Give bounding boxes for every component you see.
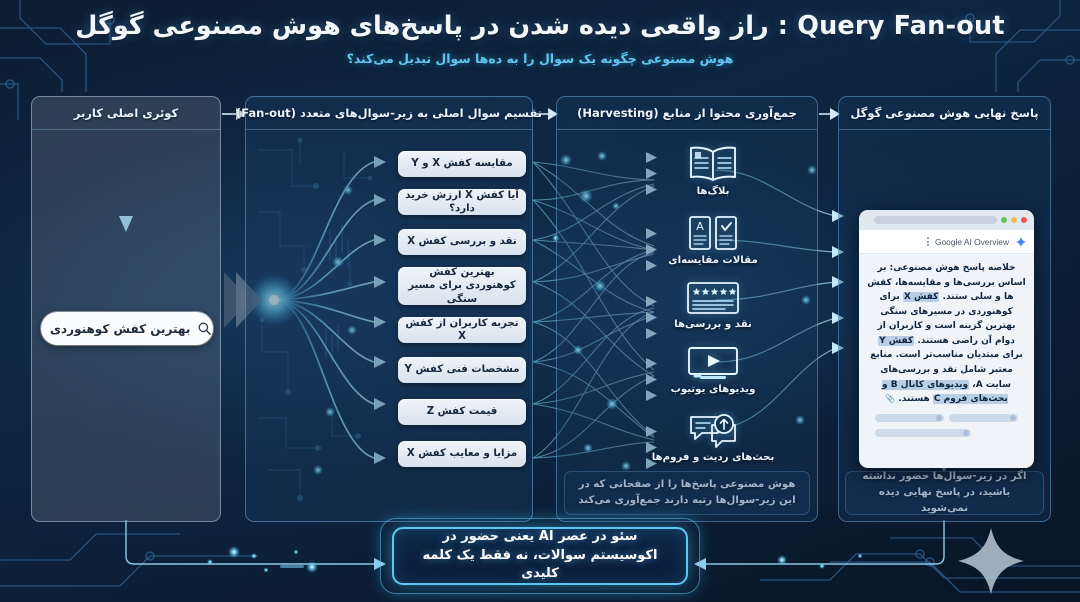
search-input[interactable]: بهترین کفش کوهنوردی [41, 312, 213, 345]
page-title: Query Fan-out : راز واقعی دیده شدن در پا… [0, 10, 1080, 43]
panel-final-answer-body: Google AI Overview خلاصه پاسخ هوش مصنوعی… [839, 130, 1050, 521]
infographic-canvas: Query Fan-out : راز واقعی دیده شدن در پا… [0, 0, 1080, 602]
panel-fanout-body: مقایسه کفش X و Y آیا کفش X ارزش خرید دار… [246, 130, 532, 521]
panel-harvesting-title: جمع‌آوری محتوا از منابع (Harvesting) [557, 97, 817, 130]
source-item-forums[interactable]: بحث‌های ردیت و فروم‌ها [657, 411, 769, 463]
ai-overview-text: خلاصه پاسخ هوش مصنوعی: بر اساس بررسی‌ها … [867, 261, 1026, 407]
ai-text-highlight: کفش X [903, 292, 940, 302]
ai-text-lead: خلاصه پاسخ هوش مصنوعی: [890, 263, 1016, 273]
panel-user-query: کوئری اصلی کاربر بهترین کفش کوهنوردی [31, 96, 221, 522]
panel-harvesting: جمع‌آوری محتوا از منابع (Harvesting) بلا… [556, 96, 818, 522]
paperclip-icon[interactable]: 📎 [885, 393, 895, 406]
subquestion-chip[interactable]: قیمت کفش Z [398, 399, 526, 425]
subquestion-chip[interactable]: بهترین کفش کوهنوردی برای مسیر سنگی [398, 267, 526, 305]
ai-overview-body: خلاصه پاسخ هوش مصنوعی: بر اساس بررسی‌ها … [859, 254, 1034, 441]
panel-final-answer-title: پاسخ نهایی هوش مصنوعی گوگل [839, 97, 1050, 130]
subquestion-chip[interactable]: آیا کفش X ارزش خرید دارد؟ [398, 189, 526, 215]
source-label: ویدیوهای یوتیوب [671, 384, 756, 395]
takeaway-banner: سئو در عصر AI یعنی حضور در اکوسیستم سوال… [392, 527, 688, 585]
star-review-icon [685, 280, 741, 316]
gemini-sparkle-icon [1015, 236, 1027, 248]
window-close-dot[interactable] [1021, 217, 1027, 223]
video-play-icon [686, 345, 740, 381]
four-point-star-icon [958, 528, 1024, 594]
forum-chat-icon [686, 411, 740, 449]
search-input-value: بهترین کفش کوهنوردی [50, 322, 190, 336]
subquestion-chip[interactable]: مزایا و معایب کفش X [398, 441, 526, 467]
header: Query Fan-out : راز واقعی دیده شدن در پا… [0, 10, 1080, 66]
ai-overview-source-chips-row [867, 429, 1026, 437]
source-item-youtube-videos[interactable]: ویدیوهای یوتیوب [657, 345, 769, 395]
ai-overview-source-chips-row [867, 414, 1026, 422]
subquestion-chip[interactable]: نقد و بررسی کفش X [398, 229, 526, 255]
subquestion-chip[interactable]: مقایسه کفش X و Y [398, 151, 526, 177]
ai-overview-header: Google AI Overview [859, 230, 1034, 254]
page-subtitle: هوش مصنوعی چگونه یک سوال را به ده‌ها سوا… [0, 51, 1080, 66]
panel-final-answer: پاسخ نهایی هوش مصنوعی گوگل Google AI Ove… [838, 96, 1051, 522]
subquestion-chip[interactable]: تجربه کاربران از کفش X [398, 317, 526, 343]
source-item-blogs[interactable]: بلاگ‌ها [657, 145, 769, 197]
source-label: نقد و بررسی‌ها [674, 319, 752, 330]
ai-overview-card: Google AI Overview خلاصه پاسخ هوش مصنوعی… [859, 210, 1034, 468]
window-minimize-dot[interactable] [1011, 217, 1017, 223]
window-maximize-dot[interactable] [1001, 217, 1007, 223]
open-book-icon [686, 145, 740, 183]
source-item-reviews[interactable]: نقد و بررسی‌ها [657, 280, 769, 330]
panel-harvesting-body: بلاگ‌ها A مقالات مقایسه‌ای [557, 130, 817, 521]
source-chip-placeholder[interactable] [949, 414, 1018, 422]
ai-text-part: هستند. [898, 394, 929, 404]
source-chip-placeholder[interactable] [875, 414, 944, 422]
source-chip-placeholder[interactable] [875, 429, 971, 437]
ai-overview-brand: Google AI Overview [935, 237, 1009, 247]
kebab-menu-icon[interactable] [927, 237, 929, 246]
search-icon [197, 321, 212, 336]
ai-text-highlight: کفش Y [878, 336, 914, 346]
panel-user-query-title: کوئری اصلی کاربر [32, 97, 220, 130]
panel-fanout: تقسیم سوال اصلی به زیر-سوال‌های متعدد (F… [245, 96, 533, 522]
address-bar[interactable] [874, 216, 997, 224]
svg-text:A: A [696, 220, 704, 233]
panel-fanout-title: تقسیم سوال اصلی به زیر-سوال‌های متعدد (F… [246, 97, 532, 130]
source-label: بحث‌های ردیت و فروم‌ها [652, 452, 775, 463]
subquestion-chip[interactable]: مشخصات فنی کفش Y [398, 357, 526, 383]
source-label: مقالات مقایسه‌ای [668, 255, 758, 266]
compare-documents-icon: A [687, 214, 739, 252]
browser-chrome [859, 210, 1034, 230]
source-item-comparison-articles[interactable]: A مقالات مقایسه‌ای [657, 214, 769, 266]
source-label: بلاگ‌ها [697, 186, 730, 197]
panel-user-query-body: بهترین کفش کوهنوردی [32, 130, 220, 521]
